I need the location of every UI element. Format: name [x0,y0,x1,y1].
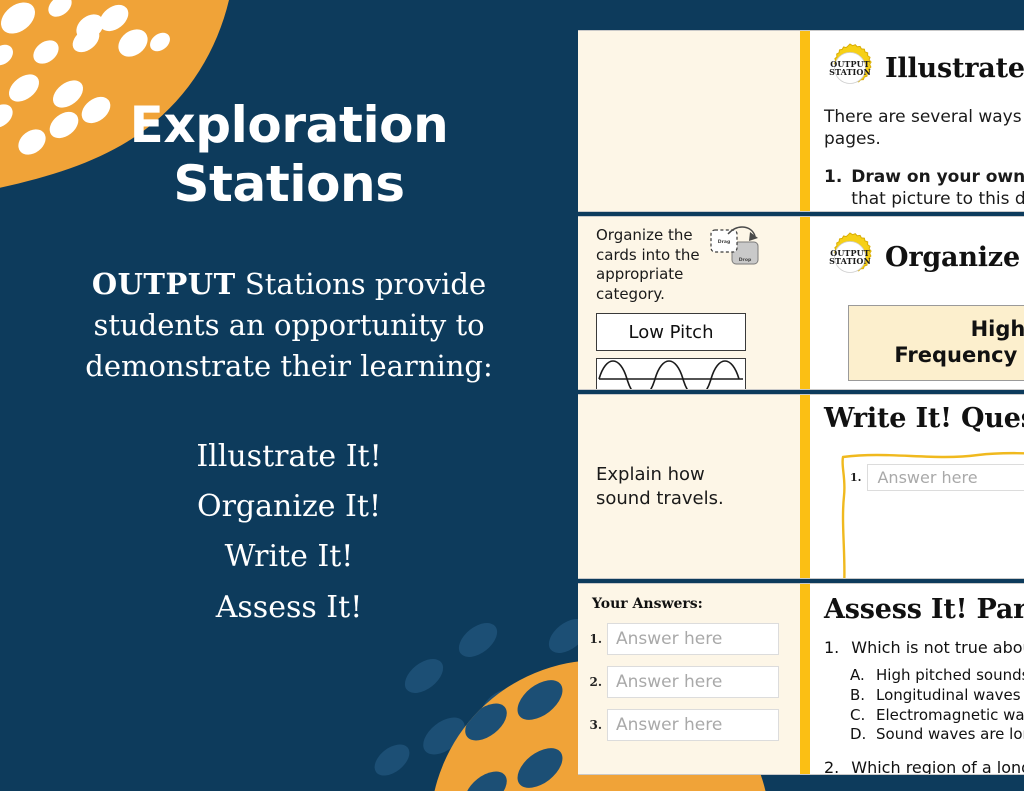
slide4-choice-letter: A. [850,666,864,686]
slide4-question-2: 2. Which region of a longitudi [824,758,1024,774]
slide-preview-assess-it[interactable]: Your Answers: 1. Answer here 2. Answer h… [578,583,1024,775]
slide4-choice-letter: C. [850,706,864,726]
slide4-choice[interactable]: A. High pitched sounds hav [850,666,1024,686]
station-name-list: Illustrate It! Organize It! Write It! As… [39,432,539,634]
slide1-divider [800,31,810,211]
intro-lead-word: OUTPUT [92,267,236,301]
station-list-item: Illustrate It! [39,432,539,482]
slide4-answer-input-3[interactable]: Answer here [607,709,779,741]
slide4-title: Assess It! Part 1 [824,594,1024,625]
slide-preview-write-it[interactable]: Explain how sound travels. Write It! Que… [578,394,1024,579]
slide2-instruction-row: Organize the cards into the appropriate … [596,226,800,304]
slide4-choice-list: A. High pitched sounds hav B. Longitudin… [850,666,1024,745]
slide1-right-pane: OUTPUT STATION Illustrate It! There are … [810,31,1024,211]
slide1-step-text: Draw on your own pa [851,167,1024,187]
slide2-instruction-line-4: category. [596,285,700,305]
slide3-prompt: Explain how sound travels. [596,463,724,511]
page-title-line-2: Stations [49,155,529,214]
output-station-seal-icon: OUTPUT STATION [824,42,876,94]
slide4-choice-text: High pitched sounds hav [876,666,1024,686]
slide1-intro-text: There are several ways pages. [824,106,1024,151]
slide3-answer-input[interactable]: Answer here [867,464,1024,491]
slide2-right-pane: OUTPUT STATION Organize It! High Frequen… [810,217,1024,389]
intro-paragraph: OUTPUT Stations provide students an oppo… [34,264,544,388]
slide4-choice-text: Sound waves are longitu [876,725,1024,745]
slide4-divider [800,584,810,774]
slide3-title: Write It! Question [824,403,1024,434]
station-list-item: Organize It! [39,482,539,532]
slide4-question-2-number: 2. [824,758,839,774]
slide1-intro-line-1: There are several ways [824,106,1024,128]
slide4-question-1-text: Which is not true about lon [851,638,1024,657]
your-answers-label: Your Answers: [592,596,800,612]
slide4-question-1: 1. Which is not true about lon [824,638,1024,657]
slide-preview-strip: OUTPUT STATION Illustrate It! There are … [578,0,1024,791]
slide4-choice[interactable]: B. Longitudinal waves must [850,686,1024,706]
slide2-instruction-line-2: cards into the [596,246,700,266]
slide3-right-pane: Write It! Question 1. Answer here [810,395,1024,578]
slide4-answer-number: 3. [588,718,602,732]
slide4-choice-letter: D. [850,725,864,745]
drag-and-drop-icon: Drag Drop [708,224,764,281]
slide4-choice[interactable]: D. Sound waves are longitu [850,725,1024,745]
answer-paper-sheet: 1. Answer here [838,448,1024,578]
category-line-2: Frequency Waves [894,343,1024,369]
page-title: Exploration Stations [49,96,529,214]
slide3-left-pane: Explain how sound travels. [578,395,800,578]
sort-card-waveform[interactable] [596,358,746,389]
category-line-1: High [894,317,1024,343]
slide3-answer-number: 1. [850,471,861,484]
slide2-instruction-line-3: appropriate [596,265,700,285]
slide3-prompt-line-1: Explain how [596,463,724,487]
page-title-line-1: Exploration [49,96,529,155]
slide2-divider [800,217,810,389]
slide4-answer-row: 2. Answer here [588,666,800,698]
slide4-answer-input-2[interactable]: Answer here [607,666,779,698]
slide4-choice-letter: B. [850,686,864,706]
left-content-column: Exploration Stations OUTPUT Stations pro… [0,0,578,791]
sort-card-low-pitch[interactable]: Low Pitch [596,313,746,351]
slide4-choice-text: Longitudinal waves must [876,686,1024,706]
seal-line-2: STATION [829,257,871,265]
category-box-high-frequency-waves[interactable]: High Frequency Waves [848,305,1024,381]
slide1-header: OUTPUT STATION Illustrate It! [824,42,1024,94]
station-list-item: Write It! [39,532,539,582]
slide4-answer-input-1[interactable]: Answer here [607,623,779,655]
slide1-step-subtext: that picture to this devi [851,188,1024,210]
slide4-answer-row: 3. Answer here [588,709,800,741]
slide4-left-pane: Your Answers: 1. Answer here 2. Answer h… [578,584,800,774]
slide4-question-2-text: Which region of a longitudi [851,758,1024,774]
svg-text:Drag: Drag [717,239,729,245]
slide1-title: Illustrate It! [885,53,1024,84]
slide4-choice[interactable]: C. Electromagnetic waves a [850,706,1024,726]
slide2-left-pane: Organize the cards into the appropriate … [578,217,800,389]
slide1-intro-line-2: pages. [824,128,1024,150]
slide1-left-pane [578,31,800,211]
slide2-instruction-line-1: Organize the [596,226,700,246]
slide2-instruction-text: Organize the cards into the appropriate … [596,226,700,304]
output-station-seal-icon: OUTPUT STATION [824,231,876,283]
slide1-step-1: 1. Draw on your own pa that picture to t… [824,166,1024,211]
slide1-step-number: 1. [824,166,842,211]
slide4-answer-row: 1. Answer here [588,623,800,655]
slide-preview-illustrate-it[interactable]: OUTPUT STATION Illustrate It! There are … [578,30,1024,212]
slide2-title: Organize It! [885,242,1024,273]
slide3-divider [800,395,810,578]
slide2-header: OUTPUT STATION Organize It! [824,231,1024,283]
slide4-question-1-number: 1. [824,638,839,657]
slide-canvas: Exploration Stations OUTPUT Stations pro… [0,0,1024,791]
slide3-prompt-line-2: sound travels. [596,487,724,511]
slide4-answer-number: 2. [588,675,602,689]
slide3-answer-row: 1. Answer here [850,464,1024,491]
slide4-answer-number: 1. [588,632,602,646]
slide4-choice-text: Electromagnetic waves a [876,706,1024,726]
svg-text:Drop: Drop [738,257,751,263]
slide4-right-pane: Assess It! Part 1 1. Which is not true a… [810,584,1024,774]
station-list-item: Assess It! [39,583,539,633]
slide-preview-organize-it[interactable]: Organize the cards into the appropriate … [578,216,1024,390]
seal-line-2: STATION [829,68,871,76]
